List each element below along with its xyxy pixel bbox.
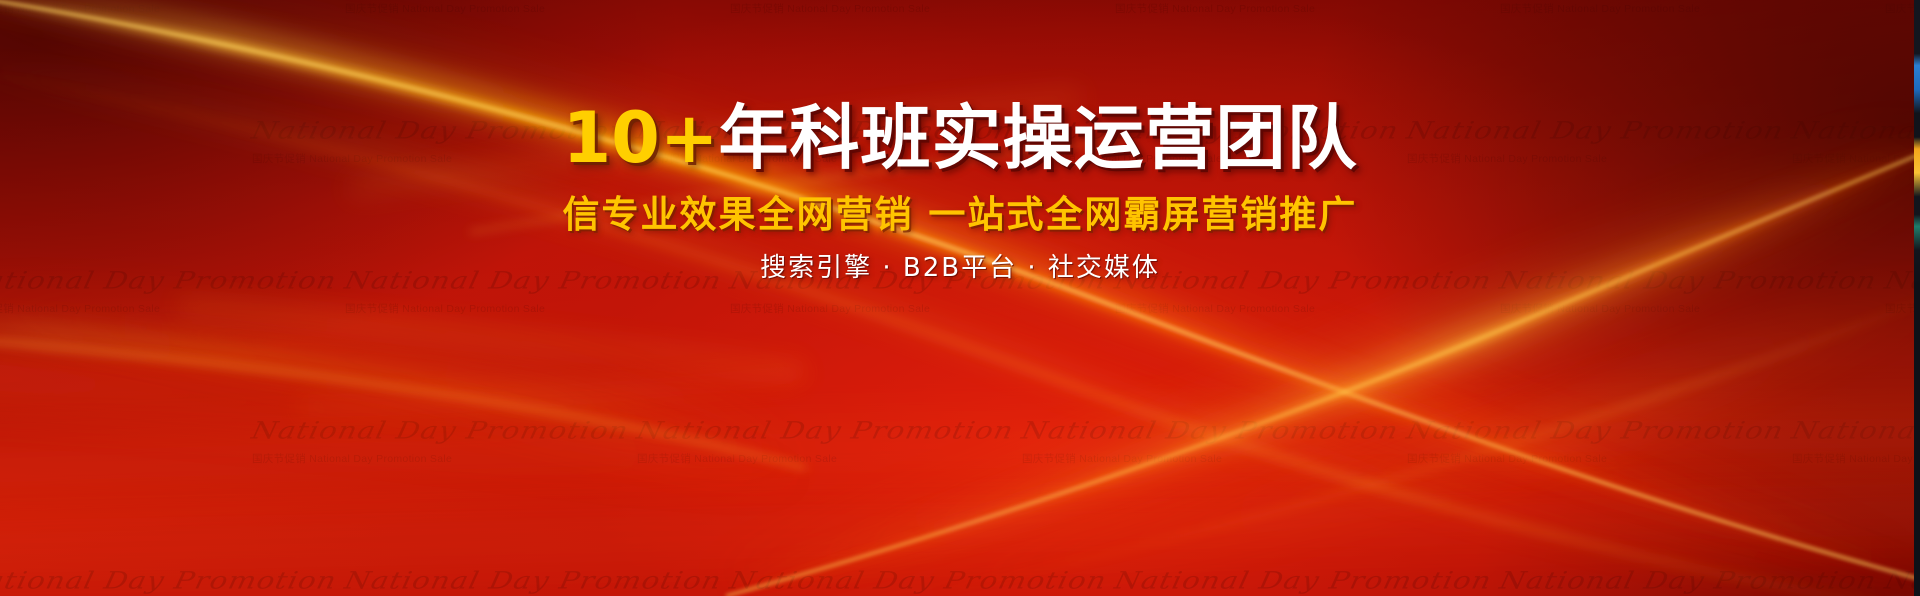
banner-subline: 信专业效果全网营销 一站式全网霸屏营销推广 <box>563 196 1358 235</box>
banner-content: 10+年科班实操运营团队 信专业效果全网营销 一站式全网霸屏营销推广 搜索引擎 … <box>0 0 1920 596</box>
edge-sliver <box>1914 0 1920 596</box>
promo-banner: National Day Promotion 国庆节促销 National Da… <box>0 0 1920 596</box>
banner-tagline: 搜索引擎 · B2B平台 · 社交媒体 <box>760 255 1160 282</box>
banner-headline: 10+年科班实操运营团队 <box>562 103 1357 174</box>
headline-highlight: 10+ <box>562 97 718 179</box>
headline-rest: 年科班实操运营团队 <box>719 97 1358 179</box>
